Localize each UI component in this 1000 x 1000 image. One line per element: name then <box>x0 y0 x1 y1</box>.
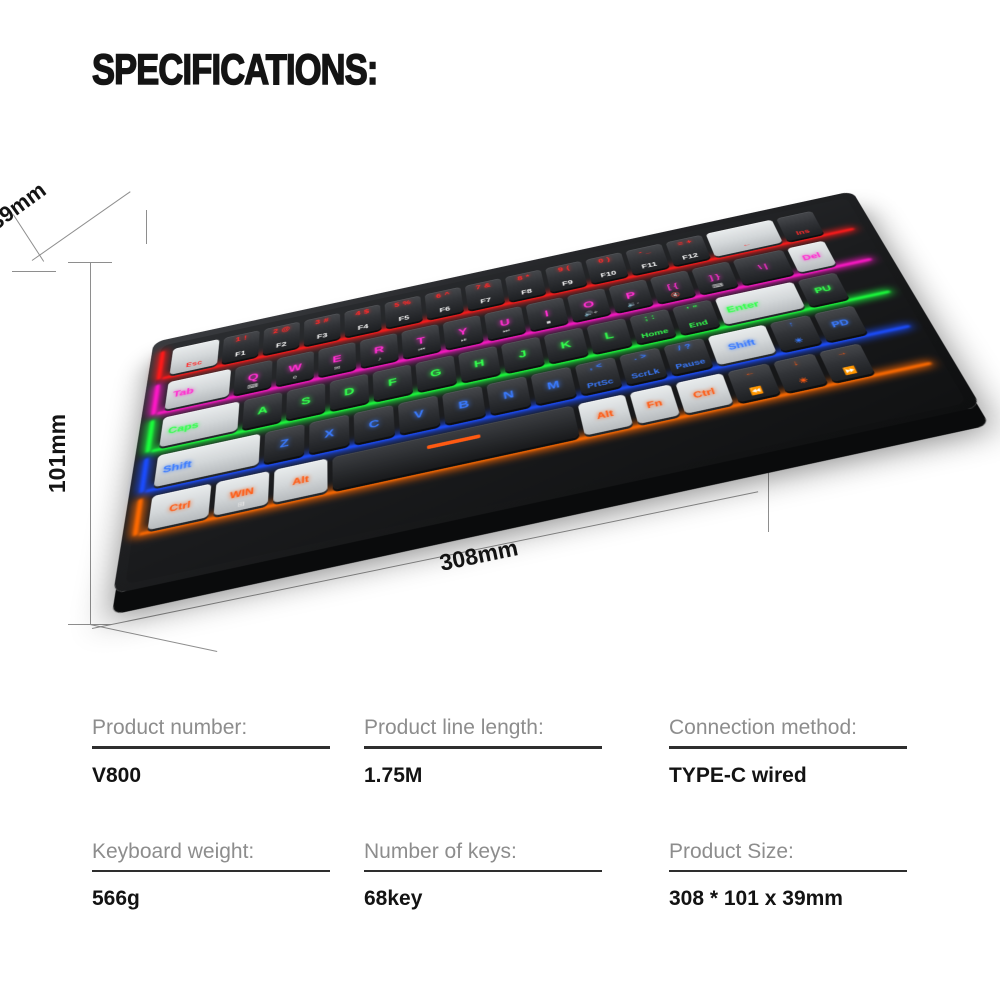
key-legend: G <box>416 363 456 382</box>
spec-value: 308 * 101 x 39mm <box>669 887 934 911</box>
keyboard-perspective-wrapper: Esc~ `1 !F12 @F23 #F34 $F45 %F56 ^F67 &F… <box>116 129 943 681</box>
spec-value: 566g <box>92 887 364 911</box>
dimension-tick-depth-c <box>12 271 56 272</box>
spec-label: Product number: <box>92 716 364 746</box>
spec-value: V800 <box>92 764 364 788</box>
spec-label: Connection method: <box>669 716 934 746</box>
key-label: PU <box>802 281 845 298</box>
dimension-line-depth <box>32 191 131 261</box>
spec-label: Keyboard weight: <box>92 840 364 870</box>
spec-divider <box>92 746 330 749</box>
product-image-keyboard: 39mm 101mm 308mm Esc~ `1 !F12 @F23 #F34 … <box>0 150 1000 670</box>
key-label: Tab <box>172 385 194 399</box>
spec-item: Product number:V800 <box>92 716 364 788</box>
dimension-tick-height-top <box>68 262 112 263</box>
keyboard-body: Esc~ `1 !F12 @F23 #F34 $F45 %F56 ^F67 &F… <box>132 201 957 578</box>
key-label: Del <box>791 249 832 265</box>
key-legend: L <box>589 326 630 345</box>
key-legend: H <box>459 354 499 373</box>
specifications-table: Product number:V800Product line length:1… <box>92 716 932 911</box>
spec-divider <box>92 870 330 873</box>
key-legend: F <box>373 373 412 392</box>
key-label: Caps <box>167 419 199 436</box>
key-legend: A <box>243 401 282 421</box>
key-legend: \ | <box>736 258 789 276</box>
key-legend: S <box>286 391 325 410</box>
spec-value: TYPE-C wired <box>669 764 934 788</box>
spec-item: Number of keys:68key <box>364 840 669 912</box>
key-legend: K <box>545 336 586 355</box>
page-title: SPECIFICATIONS: <box>92 46 378 95</box>
spec-divider <box>364 746 602 749</box>
key-legend: J <box>502 345 543 364</box>
spec-item: Product Size:308 * 101 x 39mm <box>669 840 934 912</box>
dimension-label-depth: 39mm <box>0 177 51 235</box>
spec-divider <box>669 870 907 873</box>
spec-item: Product line length:1.75M <box>364 716 669 788</box>
spec-value: 68key <box>364 887 669 911</box>
spec-label: Product Size: <box>669 840 934 870</box>
spec-label: Product line length: <box>364 716 669 746</box>
key-legend: D <box>330 382 369 401</box>
dimension-label-height: 101mm <box>44 414 71 493</box>
spec-item: Connection method:TYPE-C wired <box>669 716 934 788</box>
dimension-tick-depth-b <box>146 210 147 244</box>
spec-item: Keyboard weight:566g <box>92 840 364 912</box>
spec-label: Number of keys: <box>364 840 669 870</box>
key-label: Enter <box>725 299 761 315</box>
spec-divider <box>669 746 907 749</box>
spec-divider <box>364 870 602 873</box>
dimension-line-height <box>90 262 91 624</box>
spec-value: 1.75M <box>364 764 669 788</box>
